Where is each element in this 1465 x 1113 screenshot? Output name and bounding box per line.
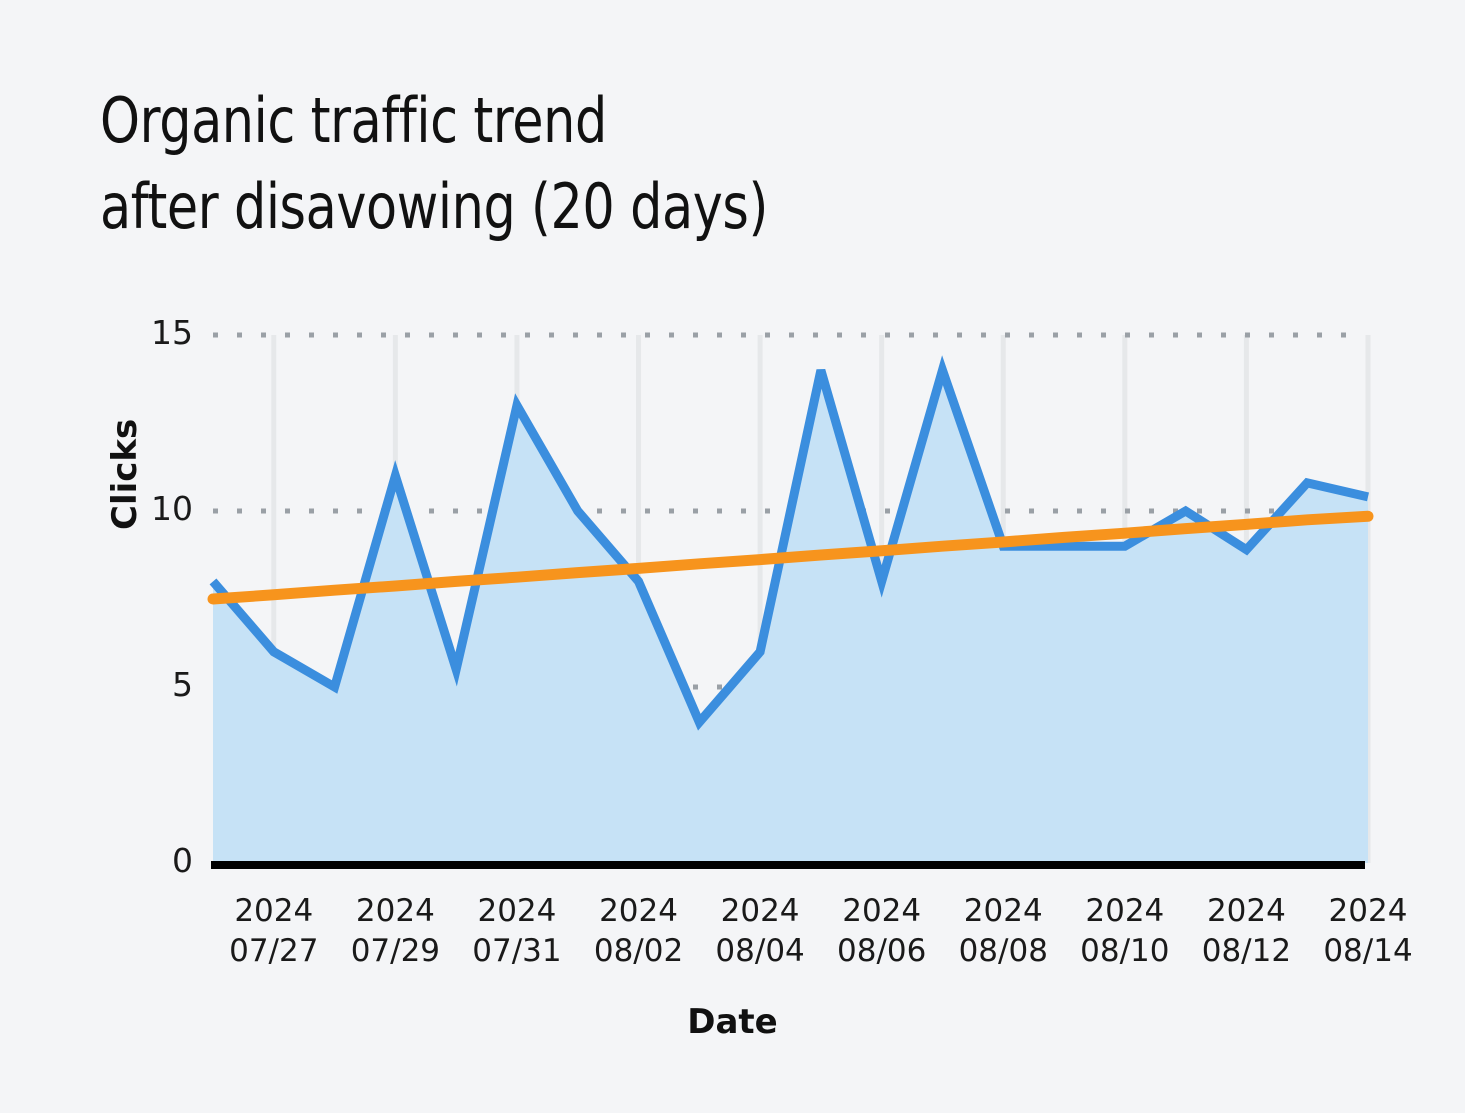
x-tick-label: 2024 07/31 — [472, 892, 561, 971]
y-tick-label: 15 — [103, 313, 193, 352]
y-tick-label: 10 — [103, 489, 193, 528]
x-tick-label: 2024 08/06 — [837, 892, 926, 971]
x-tick-label: 2024 08/12 — [1202, 892, 1291, 971]
x-tick-label: 2024 08/10 — [1080, 892, 1169, 971]
chart-container: Organic traffic trend after disavowing (… — [0, 0, 1465, 1113]
clicks-area-fill — [213, 370, 1368, 863]
x-tick-label: 2024 07/29 — [351, 892, 440, 971]
y-tick-label: 0 — [103, 841, 193, 880]
x-tick-label: 2024 08/14 — [1323, 892, 1412, 971]
x-tick-label: 2024 08/04 — [715, 892, 804, 971]
x-tick-label: 2024 07/27 — [229, 892, 318, 971]
x-tick-label: 2024 08/02 — [594, 892, 683, 971]
x-tick-label: 2024 08/08 — [959, 892, 1048, 971]
y-tick-label: 5 — [103, 665, 193, 704]
